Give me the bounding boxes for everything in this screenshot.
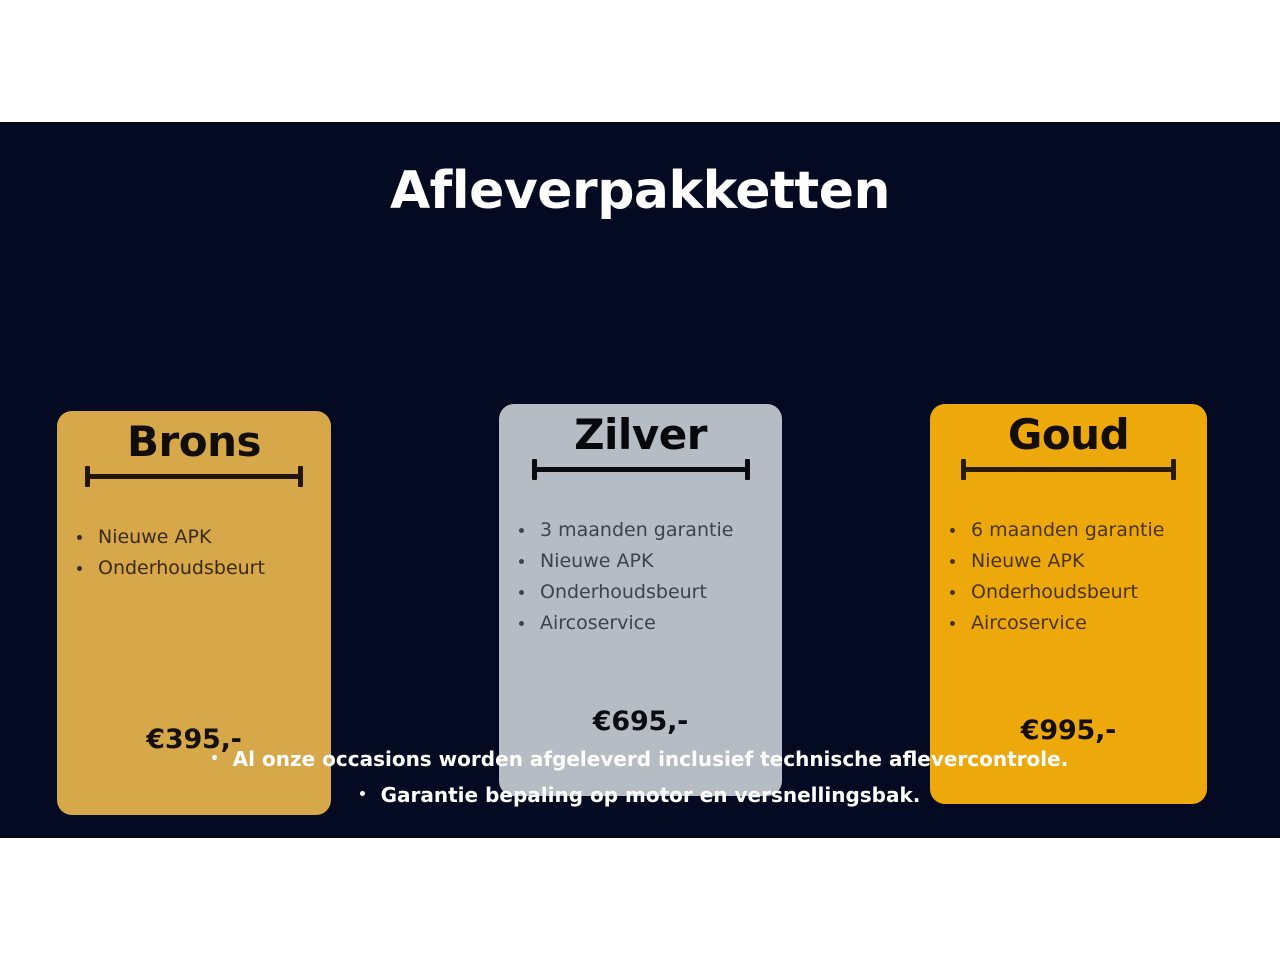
list-item: 3 maanden garantie (511, 515, 782, 546)
ibeam-divider-icon (532, 459, 750, 479)
ibeam-divider-icon (961, 459, 1176, 479)
package-title-goud: Goud (930, 404, 1207, 457)
list-item: Onderhoudsbeurt (69, 553, 331, 584)
divider-cap-right (745, 459, 750, 480)
page-title: Afleverpakketten (0, 165, 1280, 217)
list-item: Onderhoudsbeurt (942, 577, 1207, 608)
slide-content-band: Afleverpakketten Brons Nieuwe APK Onderh… (0, 122, 1280, 838)
feature-list-brons: Nieuwe APK Onderhoudsbeurt (57, 522, 331, 584)
list-item: Aircoservice (511, 608, 782, 639)
footer-note-text: Al onze occasions worden afgeleverd incl… (233, 747, 1069, 771)
footer-note-text: Garantie bepaling op motor en versnellin… (381, 783, 921, 807)
divider-cap-right (298, 466, 303, 487)
package-title-brons: Brons (57, 411, 331, 464)
list-item: Onderhoudsbeurt (511, 577, 782, 608)
divider-bar (85, 474, 303, 479)
list-item: 6 maanden garantie (942, 515, 1207, 546)
slide-canvas: Afleverpakketten Brons Nieuwe APK Onderh… (0, 0, 1280, 960)
bullet-icon (212, 755, 217, 760)
feature-list-goud: 6 maanden garantie Nieuwe APK Onderhouds… (930, 515, 1207, 639)
list-item: Nieuwe APK (942, 546, 1207, 577)
footer-note: Al onze occasions worden afgeleverd incl… (0, 741, 1280, 777)
divider-cap-right (1171, 459, 1176, 480)
footer-note: Garantie bepaling op motor en versnellin… (0, 777, 1280, 813)
package-card-zilver[interactable]: Zilver 3 maanden garantie Nieuwe APK Ond… (499, 404, 782, 796)
list-item: Nieuwe APK (69, 522, 331, 553)
footer-notes: Al onze occasions worden afgeleverd incl… (0, 741, 1280, 813)
bullet-icon (360, 791, 365, 796)
ibeam-divider-icon (85, 466, 303, 486)
list-item: Nieuwe APK (511, 546, 782, 577)
package-price-zilver: €695,- (499, 706, 782, 737)
divider-bar (532, 467, 750, 472)
package-title-zilver: Zilver (499, 404, 782, 457)
list-item: Aircoservice (942, 608, 1207, 639)
divider-bar (961, 467, 1176, 472)
feature-list-zilver: 3 maanden garantie Nieuwe APK Onderhouds… (499, 515, 782, 639)
